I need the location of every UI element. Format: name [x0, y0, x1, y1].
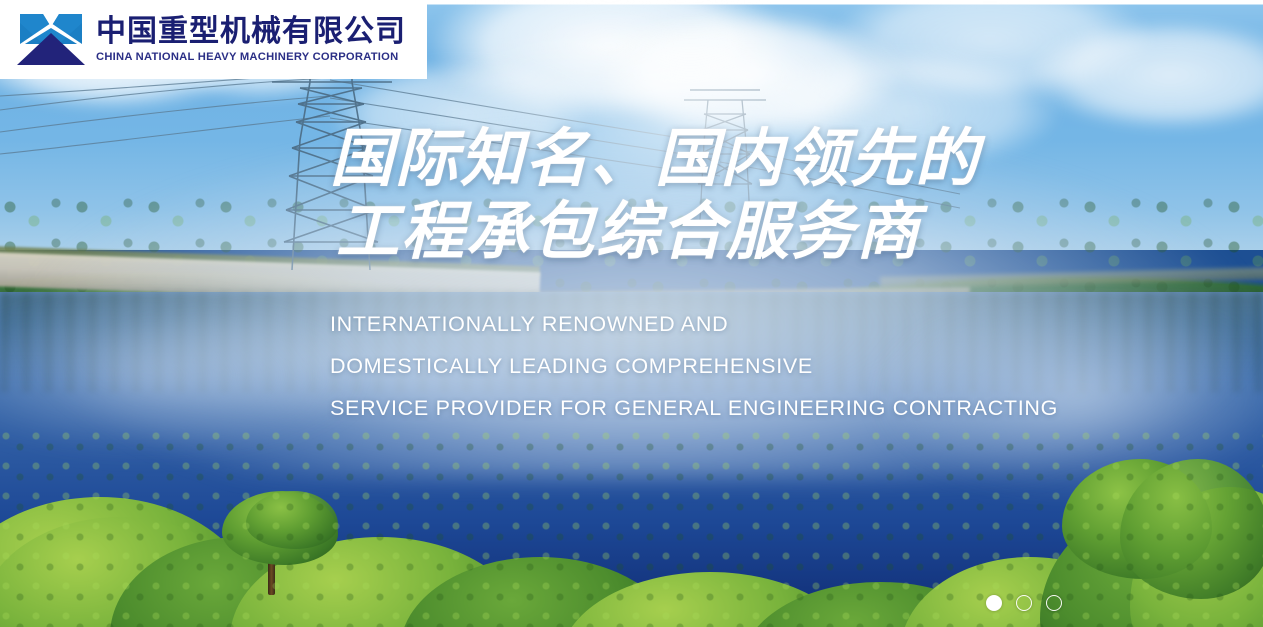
hero-headline-line-1: 国际知名、国内领先的	[330, 122, 1230, 195]
company-name-cn: 中国重型机械有限公司	[96, 16, 406, 48]
carousel-dot-1[interactable]	[986, 595, 1002, 611]
carousel-dot-2[interactable]	[1016, 595, 1032, 611]
hero-subcopy-line-3: SERVICE PROVIDER FOR GENERAL ENGINEERING…	[330, 388, 1230, 430]
hero-subcopy-line-1: INTERNATIONALLY RENOWNED AND	[330, 304, 1230, 346]
hero-banner: 中国重型机械有限公司 CHINA NATIONAL HEAVY MACHINER…	[0, 0, 1263, 627]
hero-headline-line-2: 工程承包综合服务商	[336, 195, 1230, 268]
carousel-pagination	[986, 595, 1062, 611]
cnhmc-mountain-logo-icon	[14, 11, 88, 69]
company-name-en: CHINA NATIONAL HEAVY MACHINERY CORPORATI…	[96, 51, 406, 63]
hero-copy: 国际知名、国内领先的 工程承包综合服务商 INTERNATIONALLY REN…	[330, 0, 1230, 430]
hero-headline: 国际知名、国内领先的 工程承包综合服务商	[330, 122, 1230, 268]
hero-subcopy: INTERNATIONALLY RENOWNED AND DOMESTICALL…	[330, 304, 1230, 430]
company-logo-plate[interactable]: 中国重型机械有限公司 CHINA NATIONAL HEAVY MACHINER…	[0, 0, 427, 79]
logo-wordmark: 中国重型机械有限公司 CHINA NATIONAL HEAVY MACHINER…	[96, 16, 406, 63]
carousel-dot-3[interactable]	[1046, 595, 1062, 611]
hero-subcopy-line-2: DOMESTICALLY LEADING COMPREHENSIVE	[330, 346, 1230, 388]
foreground-vegetation	[0, 427, 1263, 627]
